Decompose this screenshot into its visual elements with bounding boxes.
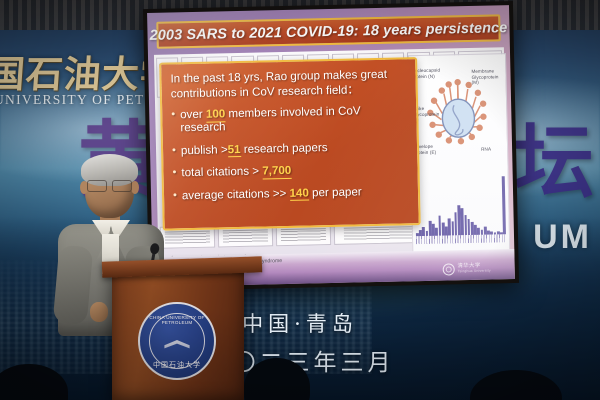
list-item: • average citations >> 140 per paper bbox=[173, 184, 410, 202]
bullet-dot-icon: • bbox=[172, 145, 176, 156]
tsinghua-name-en: Tsinghua University bbox=[458, 270, 491, 274]
bullet-text: total citations > 7,700 bbox=[181, 164, 291, 179]
bullet-pre: total citations > bbox=[181, 165, 262, 180]
slide-bullet-list: • over 100 members involved in CoV resea… bbox=[171, 103, 410, 202]
speaker-arm-left bbox=[53, 245, 94, 326]
speaker-glasses bbox=[87, 180, 132, 190]
list-item: • total citations > 7,700 bbox=[172, 161, 409, 179]
bullet-dot-icon: • bbox=[172, 168, 176, 179]
tsinghua-seal-icon bbox=[443, 263, 455, 275]
seal-text-en: CHINA UNIVERSITY OF PETROLEUM bbox=[140, 315, 214, 325]
podium: CHINA UNIVERSITY OF PETROLEUM 中国石油大学 bbox=[112, 268, 244, 400]
bullet-text: average citations >> 140 per paper bbox=[182, 185, 362, 202]
bullet-pre: over bbox=[180, 108, 206, 122]
presentation-slide: of severe acute respiratory syndrome bbox=[147, 5, 515, 287]
bullet-highlight-value: 7,700 bbox=[262, 164, 291, 179]
symposium-text: UM bbox=[533, 218, 592, 257]
bullet-dot-icon: • bbox=[171, 110, 175, 121]
bullet-dot-icon: • bbox=[173, 190, 177, 201]
university-name-cn: 国石油大学 bbox=[0, 44, 162, 98]
speaker-ear-right bbox=[131, 181, 139, 194]
bar-chart-axis bbox=[416, 234, 506, 244]
banner-character-right: 坛 bbox=[514, 126, 594, 200]
speaker-hand-left bbox=[90, 302, 108, 322]
slide-content-box: In the past 18 yrs, Rao group makes grea… bbox=[159, 57, 421, 231]
bullet-text: publish >51 research papers bbox=[181, 141, 328, 157]
virus-label-rna: RNA bbox=[481, 147, 491, 153]
publication-bar-chart bbox=[415, 176, 506, 236]
bullet-post: research papers bbox=[240, 141, 327, 156]
slide-title-bar: 2003 SARS to 2021 COVID-19: 18 years per… bbox=[156, 14, 501, 48]
bullet-highlight-value: 140 bbox=[289, 186, 309, 201]
bullet-text: over 100 members involved in CoV researc… bbox=[180, 103, 409, 134]
podium-university-seal: CHINA UNIVERSITY OF PETROLEUM 中国石油大学 bbox=[138, 302, 216, 380]
list-item: • over 100 members involved in CoV resea… bbox=[171, 103, 409, 134]
tsinghua-logo: 清华大学 Tsinghua University bbox=[443, 263, 491, 276]
tsinghua-logo-text: 清华大学 Tsinghua University bbox=[457, 264, 490, 274]
photo-scene: 国石油大学 UNIVERSITY OF PETROLEUM 黄 坛 UM 中国·… bbox=[0, 0, 600, 400]
bullet-highlight-value: 51 bbox=[228, 143, 241, 158]
virus-label-membrane: Membrane Glycoprotein (M) bbox=[471, 68, 503, 86]
bullet-post: per paper bbox=[309, 185, 362, 199]
coronavirus-figure-panel: Nucleocapsid Protein (N) Spike Glycoprot… bbox=[408, 53, 510, 253]
list-item: • publish >51 research papers bbox=[172, 139, 409, 157]
slide-title-text: 2003 SARS to 2021 COVID-19: 18 years per… bbox=[149, 20, 507, 44]
university-banner-logo: 国石油大学 UNIVERSITY OF PETROLEUM bbox=[0, 44, 160, 118]
bullet-pre: publish > bbox=[181, 143, 228, 157]
projection-screen: of severe acute respiratory syndrome bbox=[143, 1, 519, 291]
bullet-pre: average citations >> bbox=[182, 187, 290, 202]
seal-text-cn: 中国石油大学 bbox=[140, 360, 214, 370]
